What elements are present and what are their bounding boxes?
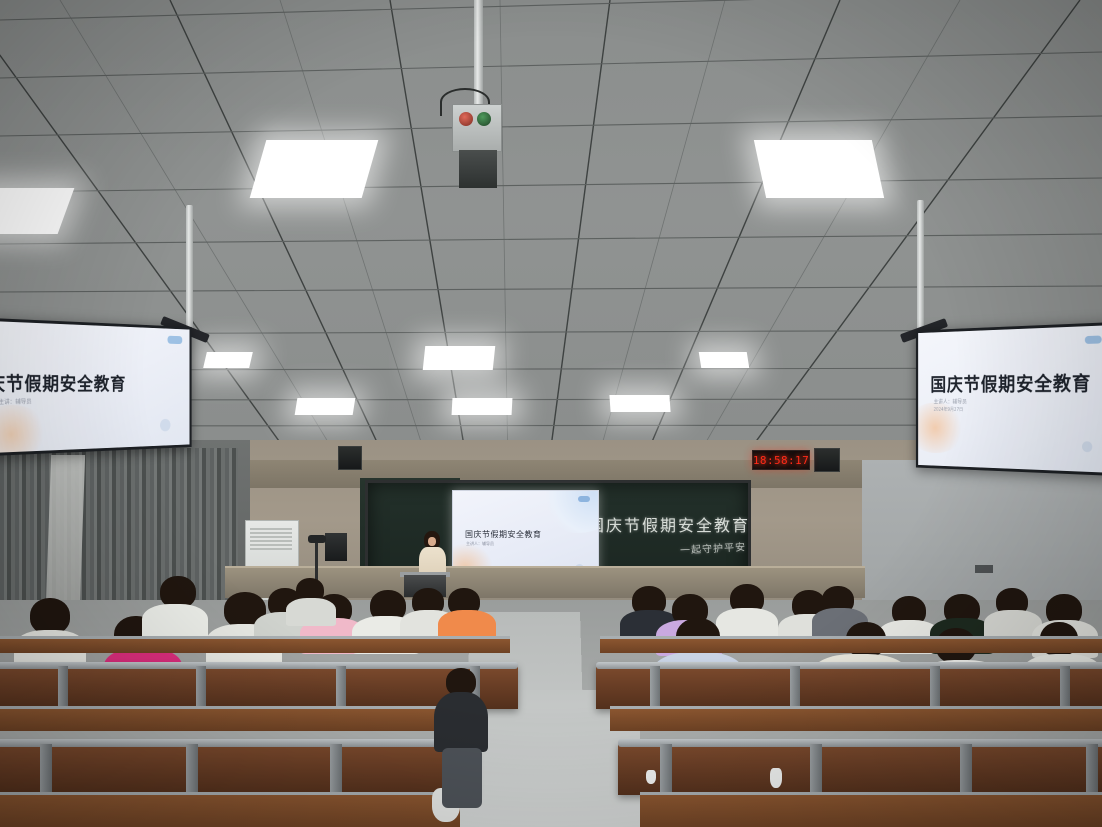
ceiling-projector — [452, 104, 502, 152]
person-body — [286, 598, 336, 626]
paper-on-bench — [646, 770, 656, 784]
bench-row-desk — [600, 636, 1102, 653]
left-tv-mount-pole — [186, 205, 193, 330]
tv-slide-badge — [168, 336, 183, 344]
bench-row — [0, 742, 476, 795]
bench-rail — [618, 739, 1102, 747]
right-tv-subtitle-1: 主讲人：辅导员 — [934, 397, 967, 405]
tv-corner-dot — [1082, 441, 1092, 452]
projector-lens-green — [477, 112, 491, 126]
person-legs — [442, 748, 482, 808]
right-wall-speaker — [814, 448, 840, 472]
bench-row — [596, 664, 1102, 709]
microphone-head — [308, 535, 326, 543]
slide-badge — [578, 496, 590, 502]
wall-sign — [975, 565, 993, 573]
bench-row-desk — [610, 706, 1102, 731]
slide-title: 国庆节假期安全教育 — [465, 529, 542, 540]
bench-row-desk — [0, 706, 480, 731]
person-body — [142, 604, 208, 640]
ceiling-light-panel — [452, 398, 513, 415]
slide-swirl-graphic — [540, 490, 599, 533]
bench-row-desk — [0, 792, 460, 827]
tv-corner-dot — [160, 419, 170, 432]
bench-row-desk — [0, 636, 510, 653]
left-wall-speaker — [338, 446, 362, 470]
person-body — [434, 692, 488, 752]
left-tv-title: 庆节假期安全教育 — [0, 369, 126, 396]
bench-row — [618, 742, 1102, 795]
right-tv-title: 国庆节假期安全教育 — [930, 367, 1091, 396]
bench-rail — [596, 662, 1102, 669]
air-conditioner-vent — [250, 528, 292, 550]
clock-time: 18:58:17 — [753, 454, 809, 467]
ceiling-light-panel — [699, 352, 750, 368]
digital-clock: 18:58:17 — [752, 450, 810, 470]
lecture-hall-photo: 18:58:17 国庆节假期安全教育 一起守护平安 国庆节假期安全教育 主讲人：… — [0, 0, 1102, 827]
stage-speaker-box — [325, 533, 347, 561]
ceiling-light-panel — [203, 352, 253, 368]
bench-row-desk — [640, 792, 1102, 827]
paper-on-bench — [770, 768, 782, 788]
bench-rail — [0, 662, 518, 669]
projector-housing — [459, 150, 497, 188]
right-tv-subtitle-2: 2024年9月27日 — [934, 406, 964, 413]
ceiling-light-panel — [754, 140, 884, 198]
bench-rail — [0, 739, 476, 747]
left-wall-tv: 庆节假期安全教育 主讲：辅导员 — [0, 318, 192, 456]
ceiling-light-panel — [609, 395, 670, 412]
right-tv-mount-pole — [917, 200, 924, 330]
projector-lens-red — [459, 112, 473, 126]
tv-warm-glow — [0, 404, 48, 456]
left-tv-subtitle: 主讲：辅导员 — [0, 397, 32, 406]
right-wall-tv: 国庆节假期安全教育 主讲人：辅导员 2024年9月27日 — [916, 322, 1102, 476]
presenter-face — [428, 537, 436, 546]
person-head — [30, 598, 70, 634]
ceiling-light-panel — [250, 140, 379, 198]
ceiling-light-panel — [295, 398, 356, 415]
tv-slide-badge — [1085, 336, 1102, 344]
ceiling-light-panel — [423, 346, 496, 370]
